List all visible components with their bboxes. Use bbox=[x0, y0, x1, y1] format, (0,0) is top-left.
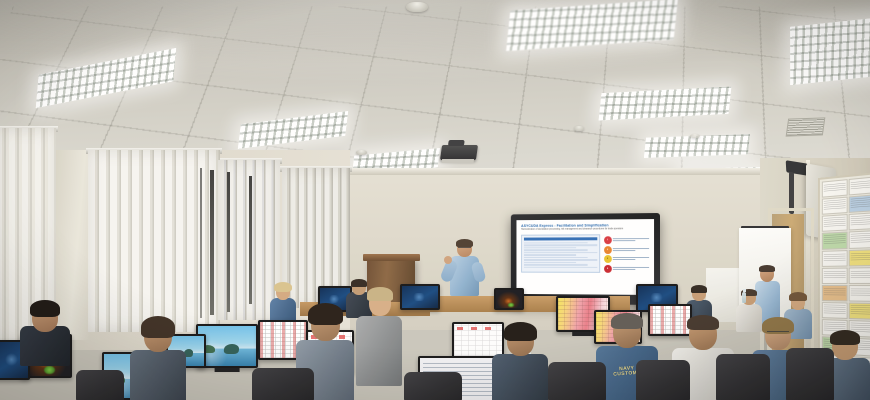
classroom-photo-scene: ASYCUDA Express - Facilitation and Simpl… bbox=[0, 0, 870, 400]
smoke-detector-icon bbox=[356, 150, 367, 155]
office-chair[interactable] bbox=[548, 362, 606, 400]
slide-badge: 1 bbox=[604, 236, 612, 244]
standing-attendee-hair bbox=[759, 265, 775, 272]
notice-item bbox=[822, 267, 847, 284]
window-gap bbox=[200, 168, 202, 318]
slide-badge-row: 2 bbox=[604, 246, 649, 254]
slide-body: 1 2 3 4 bbox=[521, 234, 649, 273]
notice-item bbox=[822, 250, 847, 267]
monitor-screen bbox=[198, 326, 256, 366]
notice-item bbox=[848, 213, 870, 231]
notice-item bbox=[822, 232, 847, 249]
window-gap bbox=[227, 172, 230, 312]
window-gap bbox=[210, 170, 214, 315]
monitor-back-right bbox=[494, 288, 524, 310]
attendee-front-left bbox=[20, 300, 70, 362]
lectern-top bbox=[363, 254, 420, 261]
slide-badge: 2 bbox=[604, 246, 612, 254]
notice-item bbox=[848, 303, 870, 320]
attendee-back-2 bbox=[270, 284, 296, 324]
slide-title: ASYCUDA Express - Facilitation and Simpl… bbox=[521, 223, 649, 228]
notice-item bbox=[848, 249, 870, 266]
window-gap bbox=[249, 176, 252, 304]
monitor-back-center bbox=[400, 284, 440, 310]
water-bottle bbox=[742, 292, 746, 303]
presentation-slide: ASYCUDA Express - Facilitation and Simpl… bbox=[516, 219, 654, 295]
notice-item bbox=[822, 302, 847, 319]
office-chair[interactable] bbox=[76, 370, 124, 400]
smoke-detector-icon bbox=[574, 126, 584, 131]
slide-badge-row: 3 bbox=[604, 255, 649, 263]
notice-item bbox=[822, 285, 847, 302]
monitor-screen bbox=[402, 286, 438, 308]
office-chair[interactable] bbox=[404, 372, 462, 400]
air-vent-grille bbox=[786, 117, 826, 136]
glasses-icon bbox=[458, 247, 471, 251]
ceiling-light-fixture bbox=[790, 17, 870, 85]
slide-badge-column: 1 2 3 4 bbox=[604, 234, 649, 273]
office-chair[interactable] bbox=[716, 354, 770, 400]
slide-badge: 3 bbox=[604, 255, 612, 263]
smoke-detector-icon bbox=[406, 2, 428, 12]
notice-item bbox=[848, 195, 870, 214]
attendee-front-2 bbox=[130, 318, 186, 400]
attendee-front-4 bbox=[492, 324, 548, 400]
slide-badge-row: 4 bbox=[604, 265, 649, 273]
ceiling-projector bbox=[440, 145, 478, 160]
slide-badge: 4 bbox=[604, 265, 612, 273]
wall-cornice bbox=[330, 168, 810, 175]
monitor-screen bbox=[496, 290, 522, 308]
glasses-icon bbox=[767, 331, 789, 336]
notice-item bbox=[822, 214, 847, 232]
office-chair[interactable] bbox=[786, 348, 834, 400]
smoke-detector-icon bbox=[690, 134, 700, 138]
presenter bbox=[448, 240, 482, 302]
notice-item bbox=[848, 285, 870, 302]
slide-text-panel bbox=[521, 234, 600, 272]
office-chair[interactable] bbox=[636, 360, 690, 400]
notice-item bbox=[848, 231, 870, 249]
slide-badge-row: 1 bbox=[604, 236, 649, 244]
notice-item bbox=[848, 176, 870, 195]
display-screen: ASYCUDA Express - Facilitation and Simpl… bbox=[516, 219, 654, 295]
notice-item bbox=[822, 197, 847, 215]
office-chair[interactable] bbox=[252, 368, 314, 400]
slide-subtitle: Harmonization of declaration processing,… bbox=[521, 228, 649, 232]
slide-panel-header bbox=[524, 237, 597, 241]
notice-item bbox=[848, 267, 870, 284]
notice-item bbox=[822, 179, 847, 198]
attendee-standing-gray bbox=[356, 290, 402, 386]
presenter-hand bbox=[444, 256, 452, 264]
